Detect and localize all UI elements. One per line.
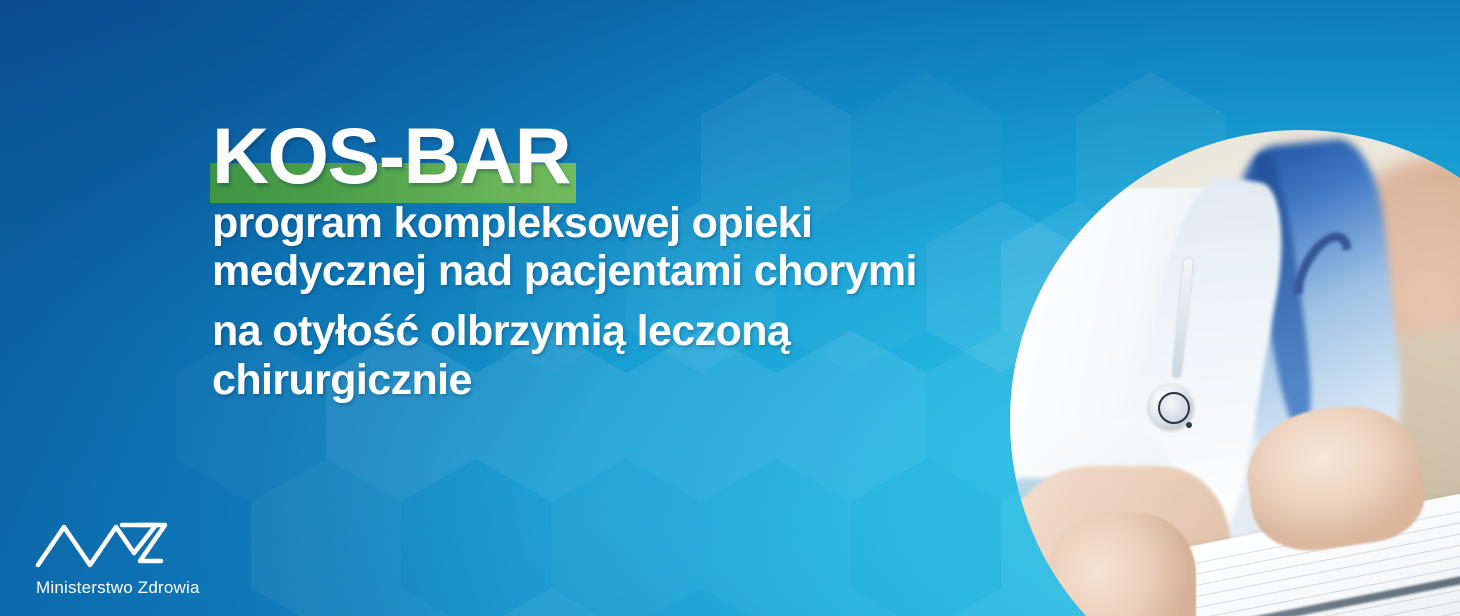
subtitle-line-2: medycznej nad pacjentami chorymi — [212, 247, 1052, 295]
mz-zigzag-mark-icon — [34, 519, 182, 569]
ministry-logo: Ministerstwo Zdrowia — [34, 519, 204, 598]
subtitle-line-3: na otyłość olbrzymią leczoną — [212, 307, 1052, 355]
program-title-wrapper: KOS-BAR — [210, 118, 576, 193]
subtitle-line-4: chirurgicznie — [212, 356, 1052, 404]
program-title: KOS-BAR — [212, 118, 570, 193]
photo-doctor-hand-left — [1045, 513, 1196, 616]
headline-block: KOS-BAR program kompleksowej opieki medy… — [212, 118, 1052, 404]
kos-bar-banner: KOS-BAR program kompleksowej opieki medy… — [0, 0, 1460, 616]
ministry-logo-text: Ministerstwo Zdrowia — [36, 578, 204, 598]
program-subtitle: program kompleksowej opieki medycznej na… — [212, 199, 1052, 404]
subtitle-line-1: program kompleksowej opieki — [212, 199, 1052, 247]
doctor-patient-photo — [1010, 130, 1460, 616]
